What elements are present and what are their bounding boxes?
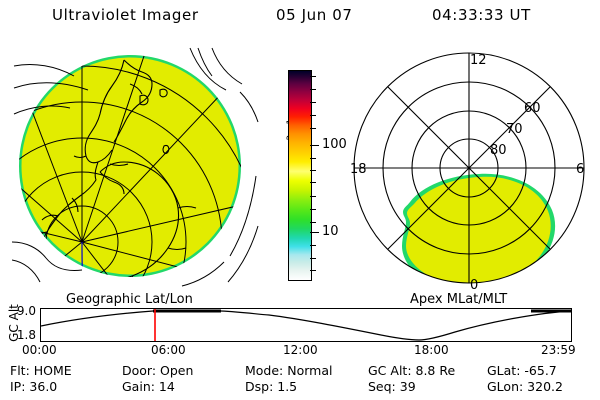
colorbar-minor-tick — [310, 128, 316, 129]
colorbar-minor-tick — [310, 89, 316, 90]
status-mode: Mode: Normal — [245, 363, 332, 378]
apex-polar-panel[interactable]: 12 6 0 18 60 70 80 — [344, 46, 594, 294]
status-gain: Gain: 14 — [122, 379, 175, 394]
header-bar: Ultraviolet Imager 05 Jun 07 04:33:33 UT — [0, 6, 600, 30]
orbit-x-tick-4: 23:59 — [541, 343, 576, 357]
orbit-y-tick-high: 9.0 — [10, 304, 36, 318]
mlt-spokes — [354, 53, 584, 283]
colorbar-minor-tick — [310, 170, 316, 171]
status-flt: Flt: HOME — [10, 363, 72, 378]
orbit-plot-box[interactable] — [40, 308, 572, 342]
colorbar-major-tick-100 — [310, 145, 319, 146]
status-door: Door: Open — [122, 363, 193, 378]
colorbar-minor-tick — [310, 158, 316, 159]
apex-polar-svg: 12 6 0 18 60 70 80 — [344, 46, 594, 294]
observation-time: 04:33:33 UT — [432, 6, 531, 24]
status-seq: Seq: 39 — [368, 379, 416, 394]
orbit-x-tick-2: 12:00 — [283, 343, 318, 357]
geographic-projection-svg — [12, 46, 260, 294]
mlat-label-80: 80 — [490, 143, 507, 158]
mlt-label-6: 6 — [576, 162, 584, 177]
colorbar-tick-label-10: 10 — [322, 225, 339, 238]
colorbar-minor-tick — [310, 115, 316, 116]
colorbar-minor-tick — [310, 222, 316, 223]
observation-date: 05 Jun 07 — [276, 6, 353, 24]
colorbar-minor-tick — [310, 196, 316, 197]
instrument-title: Ultraviolet Imager — [52, 6, 199, 24]
colorbar-minor-tick — [310, 245, 316, 246]
status-glon: GLon: 320.2 — [487, 379, 563, 394]
colorbar-group: photon cm-2s-1 100 10 — [264, 62, 344, 292]
colorbar-minor-tick — [310, 270, 316, 271]
gc-altitude-trace — [41, 311, 571, 340]
status-footer: Flt: HOME Door: Open Mode: Normal GC Alt… — [0, 362, 600, 398]
mlt-label-18: 18 — [350, 162, 367, 177]
status-ip: IP: 36.0 — [10, 379, 57, 394]
colorbar-minor-tick — [310, 209, 316, 210]
mlt-label-0: 0 — [470, 278, 478, 293]
earth-disk — [19, 55, 241, 277]
orbit-x-tick-3: 18:00 — [414, 343, 449, 357]
colorbar-minor-tick — [310, 102, 316, 103]
orbit-altitude-plot[interactable]: GC Alt 9.0 1.8 00:00 06:00 12:00 18:00 2… — [0, 304, 600, 360]
orbit-x-tick-1: 06:00 — [151, 343, 186, 357]
colorbar-minor-tick — [310, 76, 316, 77]
status-glat: GLat: -65.7 — [487, 363, 557, 378]
mlat-label-70: 70 — [506, 122, 523, 137]
mlat-label-60: 60 — [524, 101, 541, 116]
geographic-image-panel[interactable] — [12, 46, 260, 294]
colorbar-minor-tick — [310, 182, 316, 183]
status-dsp: Dsp: 1.5 — [245, 379, 297, 394]
colorbar-major-tick-10 — [310, 232, 319, 233]
colorbar-minor-tick — [310, 258, 316, 259]
orbit-trace-svg — [41, 309, 571, 341]
orbit-y-tick-low: 1.8 — [10, 328, 36, 342]
colorbar-gradient[interactable] — [288, 70, 312, 281]
status-gc-alt: GC Alt: 8.8 Re — [368, 363, 455, 378]
mlt-label-12: 12 — [470, 53, 487, 68]
orbit-x-tick-0: 00:00 — [22, 343, 57, 357]
